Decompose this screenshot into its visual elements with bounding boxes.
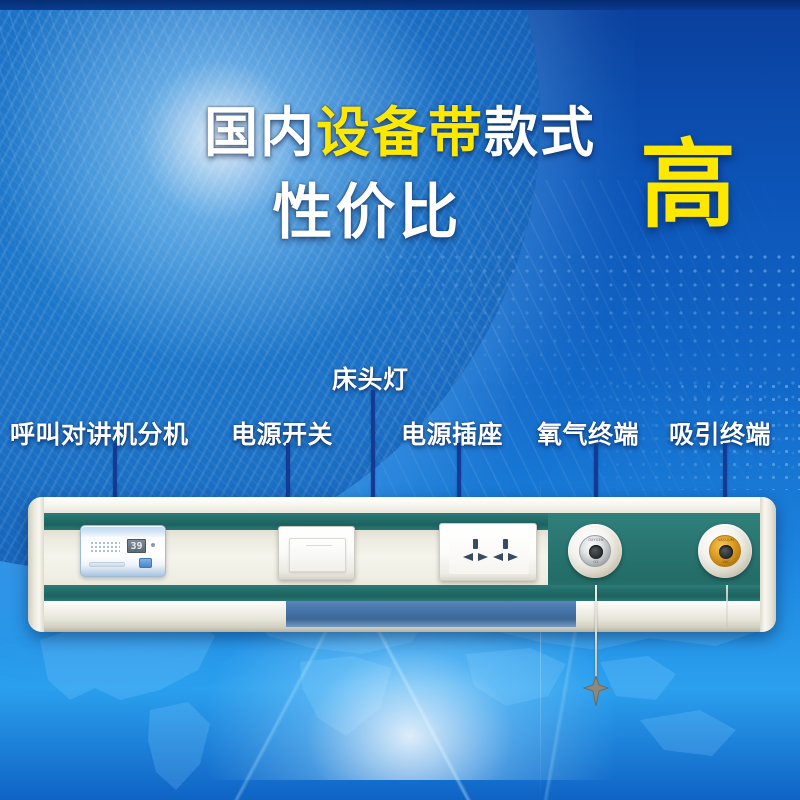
callout-layer: 呼叫对讲机分机 电源开关 床头灯 电源插座 氧气终端 吸引终端 — [0, 0, 800, 800]
rocker-indent — [306, 545, 332, 546]
promo-banner: 国内设备带款式 性价比 高 呼叫对讲机分机 电源开关 床头灯 电源插座 氧气终端… — [0, 0, 800, 800]
suction-outlet[interactable]: VACUUM VAC — [698, 524, 752, 578]
pull-cord-handle-icon[interactable] — [582, 676, 610, 706]
callout-label-call-intercom: 呼叫对讲机分机 — [10, 415, 189, 451]
callout-label-power-socket: 电源插座 — [401, 415, 503, 451]
unit-top-lip — [28, 497, 776, 514]
bed-head-unit: 39 — [28, 497, 776, 632]
socket-outlet-right[interactable] — [491, 539, 521, 565]
suction-outlet-bottom-text: VAC — [710, 560, 742, 564]
pull-cord — [595, 585, 597, 683]
unit-end-cap-left — [28, 497, 44, 632]
nurse-call-intercom[interactable]: 39 — [80, 525, 166, 577]
unit-inner: 39 — [28, 497, 776, 632]
socket-pin-right — [478, 553, 488, 561]
unit-lamp-diffuser — [286, 601, 576, 627]
socket-outlet-left[interactable] — [461, 539, 491, 565]
oxygen-outlet-face[interactable]: OXYGEN O2 — [579, 535, 611, 567]
intercom-call-button[interactable] — [139, 558, 152, 568]
socket-pin-left — [493, 553, 503, 561]
socket-pin-right — [508, 553, 518, 561]
suction-outlet-face[interactable]: VACUUM VAC — [709, 535, 741, 567]
socket-pin-vertical — [473, 539, 478, 549]
rocker-paddle[interactable] — [289, 538, 346, 572]
unit-end-cap-right — [760, 497, 776, 632]
oxygen-outlet-top-text: OXYGEN — [580, 538, 612, 542]
speaker-grille-icon — [90, 541, 120, 553]
callout-label-oxygen-outlet: 氧气终端 — [537, 415, 639, 451]
suction-outlet-cable — [726, 585, 728, 627]
universal-dual-socket[interactable] — [439, 523, 537, 581]
callout-label-suction-outlet: 吸引终端 — [669, 415, 771, 451]
intercom-slot — [89, 562, 125, 567]
suction-outlet-top-text: VACUUM — [710, 538, 742, 542]
callout-label-power-switch: 电源开关 — [231, 415, 333, 451]
socket-pin-vertical — [503, 539, 508, 549]
wall-rocker-switch[interactable] — [278, 526, 355, 580]
suction-outlet-port[interactable] — [719, 545, 733, 559]
intercom-display: 39 — [127, 539, 146, 553]
oxygen-outlet-bottom-text: O2 — [580, 560, 612, 564]
teal-band-mid — [28, 585, 776, 601]
oxygen-outlet[interactable]: OXYGEN O2 — [568, 524, 622, 578]
status-led — [151, 543, 155, 547]
socket-pin-left — [463, 553, 473, 561]
socket-faceplate — [449, 532, 529, 574]
oxygen-outlet-port[interactable] — [589, 545, 603, 559]
